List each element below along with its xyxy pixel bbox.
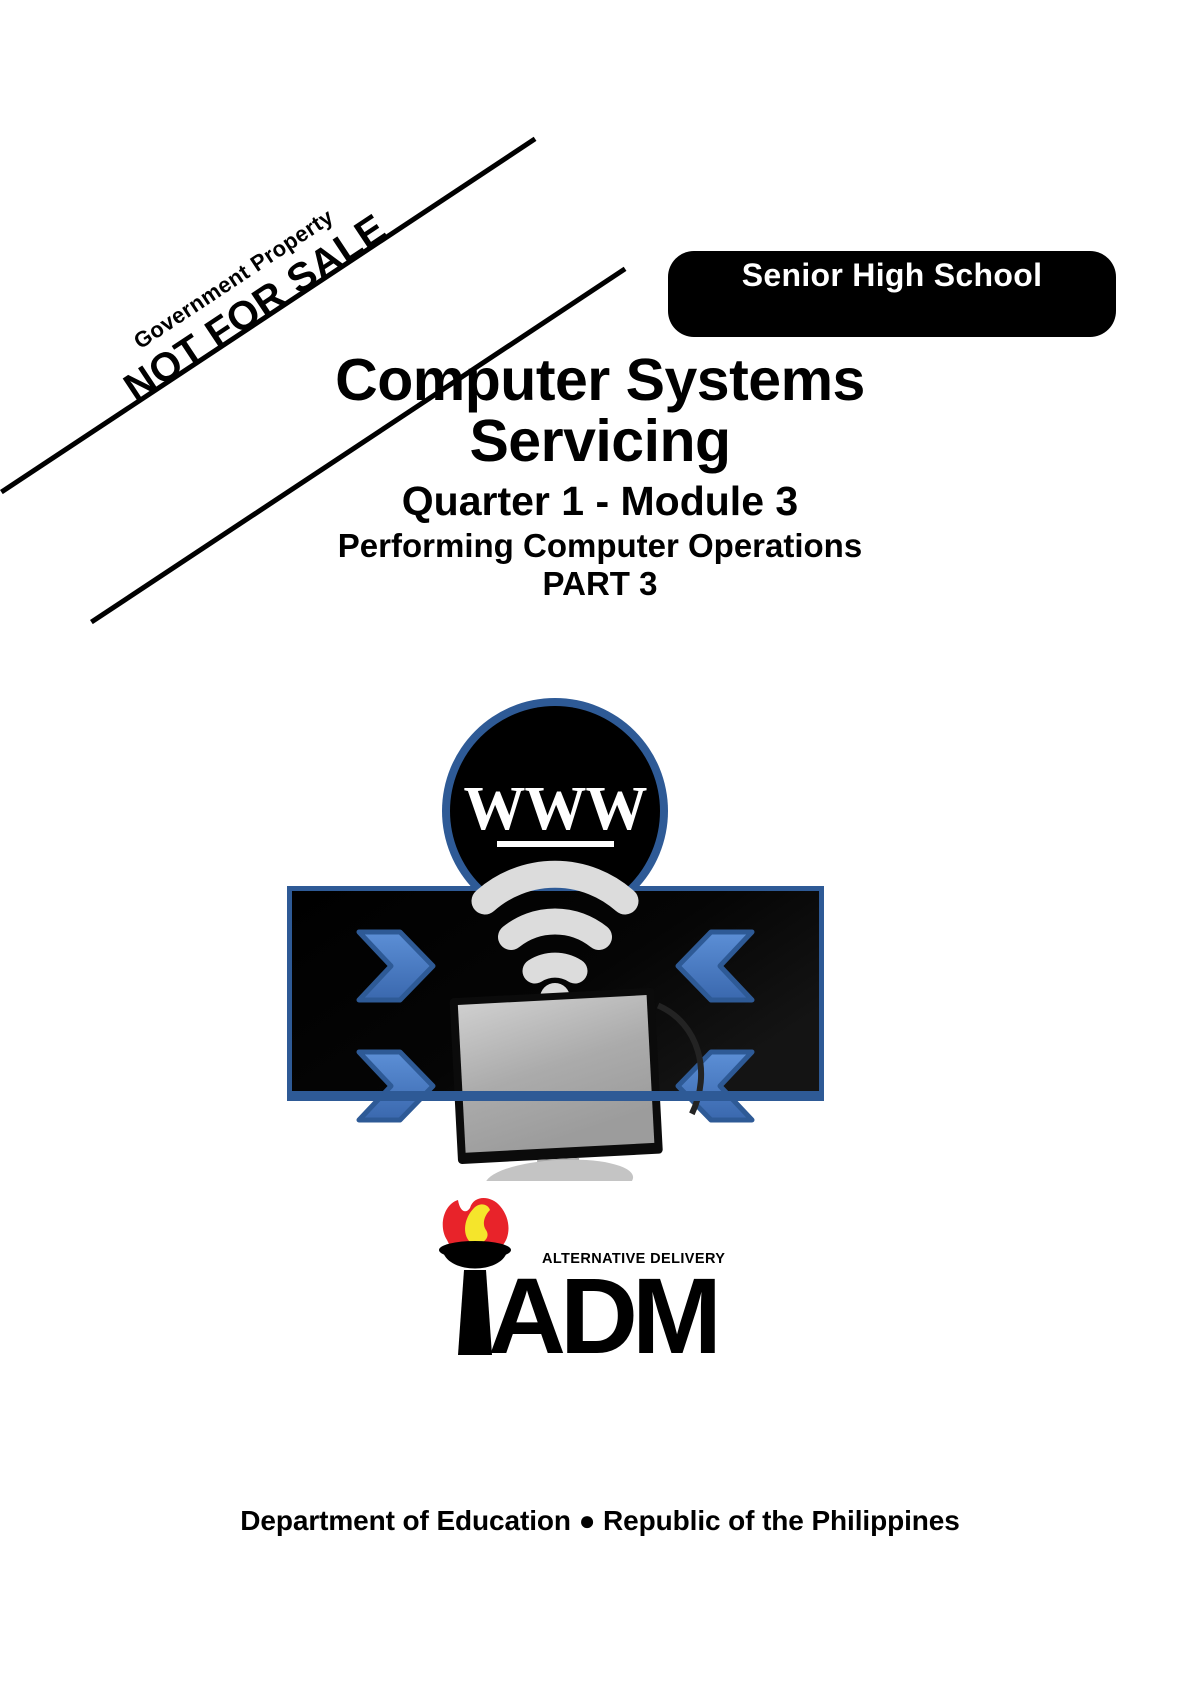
deped-footer: Department of Education ● Republic of th…: [0, 1505, 1200, 1537]
lesson-title-label: Performing Computer Operations: [120, 527, 1080, 565]
cover-page: Government Property NOT FOR SALE Senior …: [0, 0, 1200, 1698]
title-block: Computer Systems Servicing Quarter 1 - M…: [120, 350, 1080, 603]
torch-flame-icon: [443, 1198, 509, 1246]
subject-title-line-1: Computer Systems: [120, 350, 1080, 411]
adm-logo: ALTERNATIVE DELIVERY MODE ADM: [430, 1190, 730, 1355]
svg-text:WWW: WWW: [464, 775, 648, 843]
subject-title-line-2: Servicing: [120, 411, 1080, 472]
adm-wordmark: ADM: [488, 1255, 716, 1355]
government-property-label: Government Property: [102, 186, 365, 371]
senior-high-school-badge: Senior High School: [668, 251, 1116, 337]
senior-high-school-label: Senior High School: [668, 257, 1116, 294]
part-label: PART 3: [120, 565, 1080, 603]
quarter-module-label: Quarter 1 - Module 3: [120, 478, 1080, 525]
cover-illustration: WWW: [283, 681, 828, 1181]
